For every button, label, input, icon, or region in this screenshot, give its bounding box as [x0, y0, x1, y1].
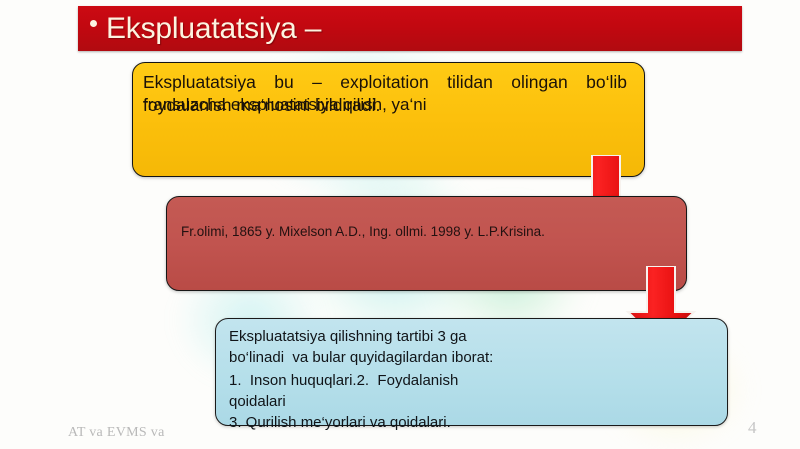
definition-callout-yellow: Ekspluatatsiya bu – exploitation tilidan…	[132, 62, 645, 177]
sources-callout-maroon: Fr.olimi, 1865 y. Mixelson A.D., Ing. ol…	[166, 196, 687, 291]
slide-title-banner: Ekspluatatsiya –	[78, 6, 742, 51]
procedure-text: Ekspluatatsiya qilishning tartibi 3 ga b…	[229, 326, 709, 433]
slide-title-row: Ekspluatatsiya –	[86, 6, 742, 51]
slide-title-text: Ekspluatatsiya –	[106, 14, 321, 44]
procedure-callout-blue: Ekspluatatsiya qilishning tartibi 3 ga b…	[215, 318, 728, 426]
sources-text: Fr.olimi, 1865 y. Mixelson A.D., Ing. ol…	[181, 222, 651, 242]
bullet-point-icon	[90, 20, 97, 27]
procedure-line: Ekspluatatsiya qilishning tartibi 3 ga	[229, 326, 709, 347]
footer-note: AT va EVMS va	[68, 425, 165, 441]
procedure-line: bo‘linadi va bular quyidagilardan iborat…	[229, 347, 709, 368]
procedure-line: qoidalari	[229, 391, 709, 412]
procedure-line: 1. Inson huquqlari.2. Foydalanish	[229, 370, 709, 391]
definition-text-overlay: fransuzcha ekspluatatsiya qilish, ya‘ni	[143, 90, 627, 119]
page-number: 4	[748, 418, 757, 438]
procedure-line: 3. Qurilish me‘yorlari va qoidalari.	[229, 412, 709, 433]
presentation-slide: Ekspluatatsiya – Ekspluatatsiya bu – exp…	[0, 0, 800, 449]
